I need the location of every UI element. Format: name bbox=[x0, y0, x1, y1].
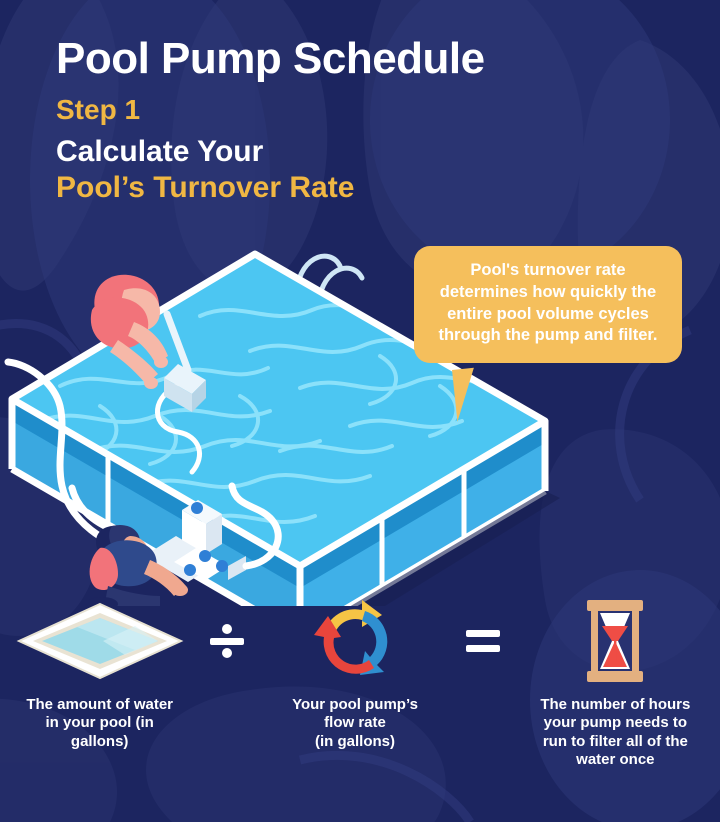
infographic-poster: Pool Pump Schedule Step 1 Calculate Your… bbox=[0, 0, 720, 822]
formula-item-flow-rate: Your pool pump’s flow rate (in gallons) bbox=[255, 598, 454, 751]
formula-label-water-amount: The amount of water in your pool (in gal… bbox=[26, 696, 173, 751]
pool-top-view-icon bbox=[15, 598, 185, 684]
callout-text: Pool's turnover rate determines how quic… bbox=[428, 260, 668, 347]
divide-dot-top bbox=[222, 624, 232, 634]
formula-item-water-amount: The amount of water in your pool (in gal… bbox=[0, 598, 199, 751]
equals-operator bbox=[455, 598, 511, 684]
subtitle-line-1: Calculate Your bbox=[56, 134, 676, 169]
circular-flow-icon bbox=[311, 598, 399, 684]
formula-row: The amount of water in your pool (in gal… bbox=[0, 598, 720, 798]
divide-operator bbox=[199, 598, 255, 684]
page-title: Pool Pump Schedule bbox=[56, 36, 676, 82]
equals-bar-top bbox=[466, 630, 500, 637]
step-label: Step 1 bbox=[56, 94, 676, 126]
formula-label-hours: The number of hours your pump needs to r… bbox=[540, 696, 690, 769]
divide-dot-bottom bbox=[222, 648, 232, 658]
header: Pool Pump Schedule Step 1 Calculate Your… bbox=[56, 36, 676, 205]
equals-bar-bottom bbox=[466, 645, 500, 652]
hourglass-icon bbox=[575, 598, 655, 684]
formula-item-hours: The number of hours your pump needs to r… bbox=[511, 598, 720, 769]
formula-label-flow-rate: Your pool pump’s flow rate (in gallons) bbox=[292, 696, 418, 751]
divide-bar bbox=[210, 638, 244, 645]
callout-bubble: Pool's turnover rate determines how quic… bbox=[414, 246, 682, 363]
subtitle-line-2: Pool’s Turnover Rate bbox=[56, 170, 676, 205]
